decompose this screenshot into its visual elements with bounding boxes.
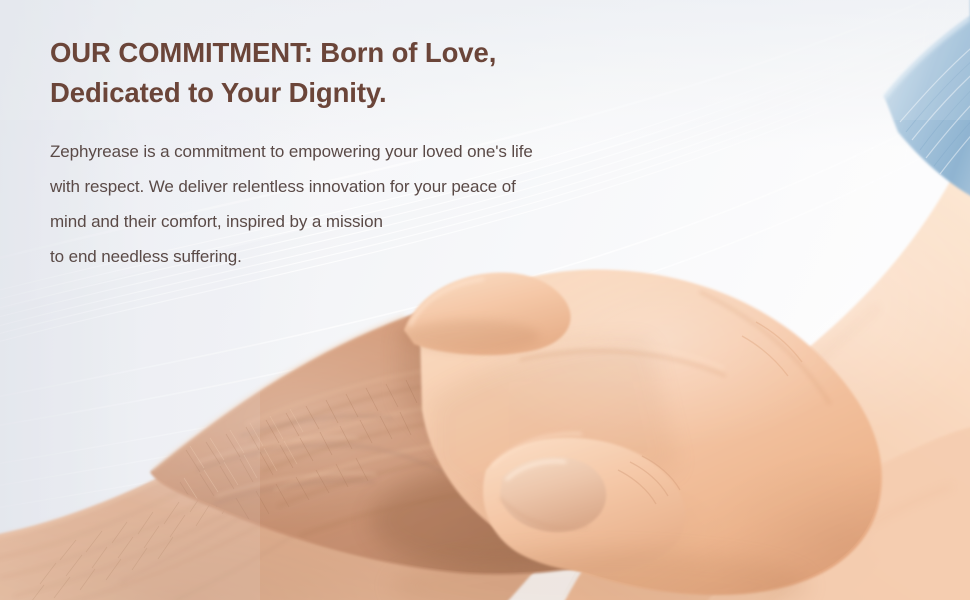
body-paragraph: Zephyrease is a commitment to empowering…: [50, 113, 710, 274]
copy-block: OUR COMMITMENT: Born of Love, Dedicated …: [50, 33, 710, 274]
young-fingertip: [400, 272, 571, 355]
elderly-hand: [76, 294, 760, 600]
commitment-banner: OUR COMMITMENT: Born of Love, Dedicated …: [0, 0, 970, 600]
young-thumb: [483, 434, 685, 572]
elderly-forearm: [0, 288, 640, 600]
blue-sleeve-cuff: [884, 0, 970, 210]
young-hand: [390, 230, 970, 600]
page-title: OUR COMMITMENT: Born of Love, Dedicated …: [50, 33, 710, 113]
